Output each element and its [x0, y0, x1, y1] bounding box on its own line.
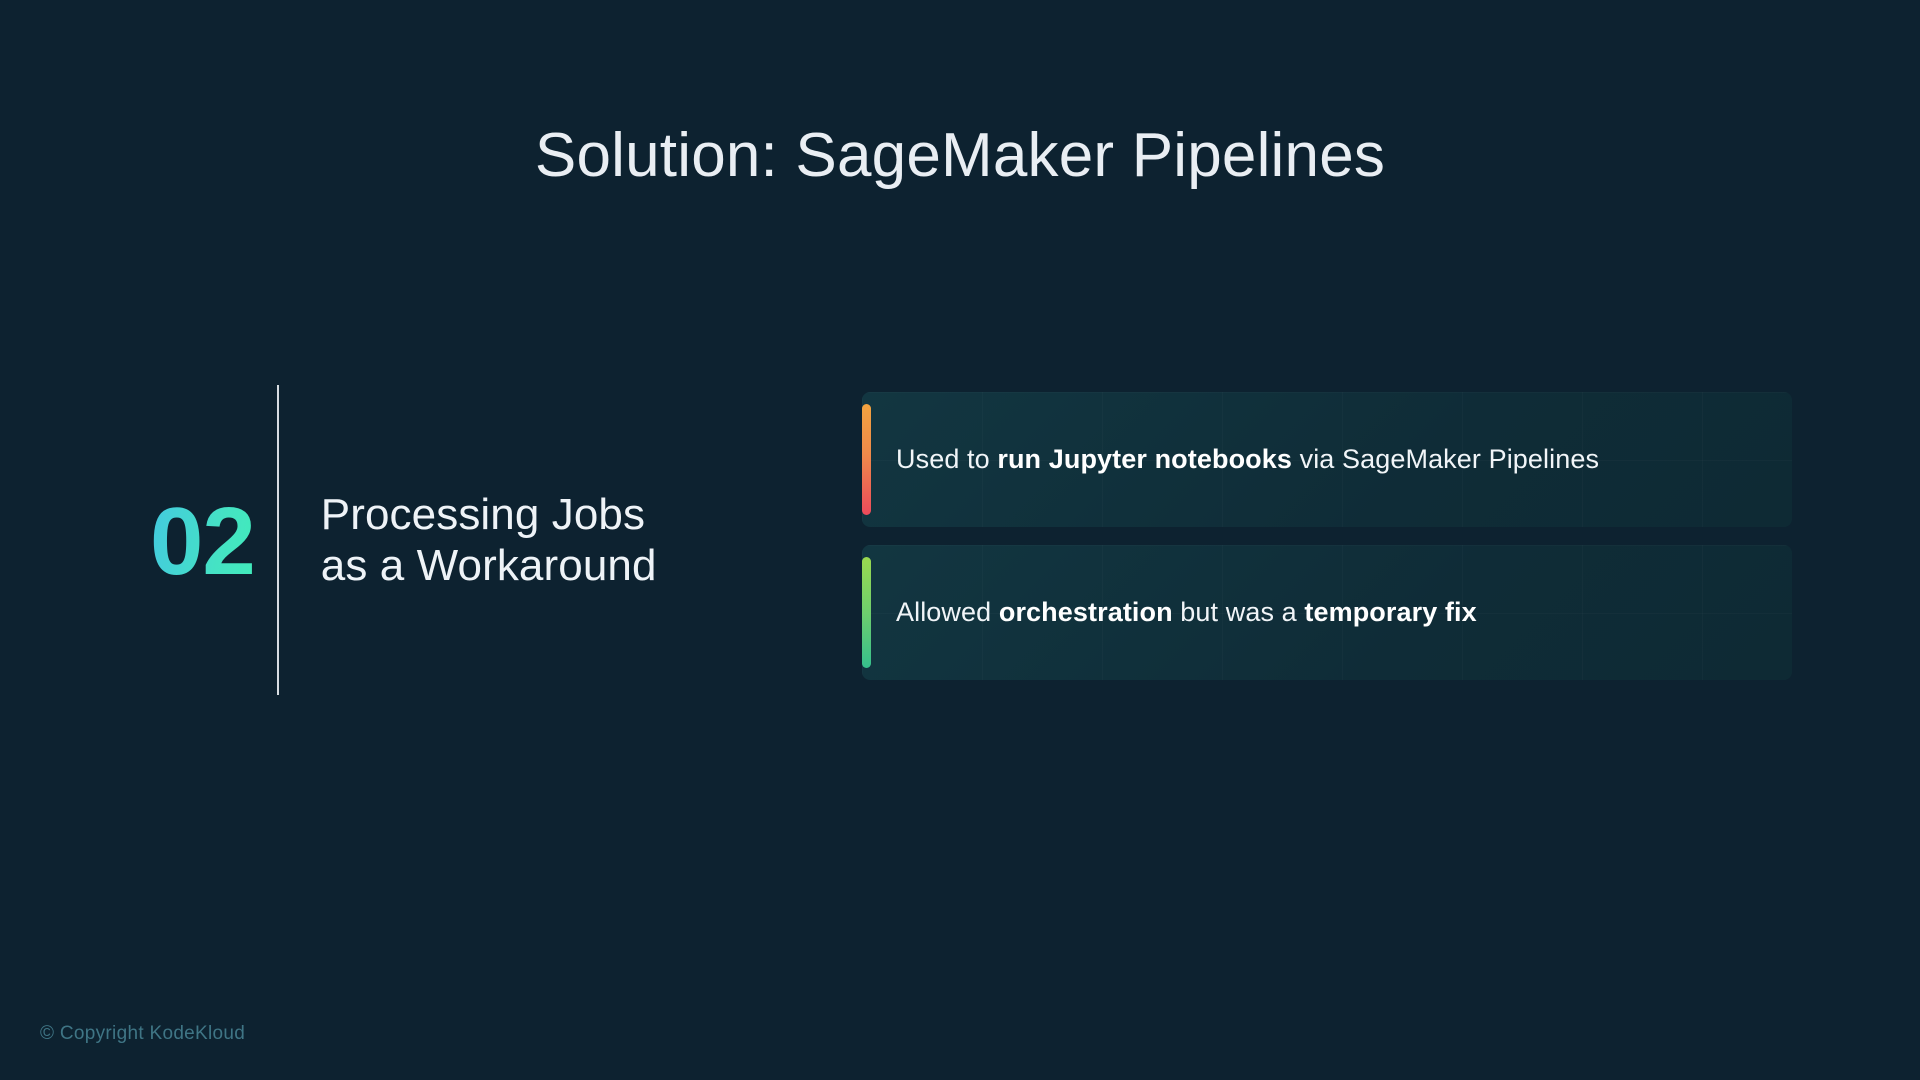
bullet-card[interactable]: Allowed orchestration but was a temporar…: [862, 545, 1792, 680]
bullet-card-text: Allowed orchestration but was a temporar…: [862, 594, 1517, 630]
bullet-card-list: Used to run Jupyter notebooks via SageMa…: [862, 392, 1792, 680]
orange-red-accent-bar: [862, 404, 871, 515]
vertical-divider: [277, 385, 279, 695]
page-title: Solution: SageMaker Pipelines: [0, 120, 1920, 191]
bullet-card[interactable]: Used to run Jupyter notebooks via SageMa…: [862, 392, 1792, 527]
step-number: 02: [150, 494, 277, 590]
green-teal-accent-bar: [862, 557, 871, 668]
slide-root: Solution: SageMaker Pipelines 02 Process…: [0, 0, 1920, 1080]
bullet-card-text: Used to run Jupyter notebooks via SageMa…: [862, 441, 1639, 477]
section-heading: Processing Jobs as a Workaround: [279, 489, 657, 591]
footer-copyright: © Copyright KodeKloud: [40, 1023, 245, 1045]
left-step-block: 02 Processing Jobs as a Workaround: [150, 385, 750, 695]
